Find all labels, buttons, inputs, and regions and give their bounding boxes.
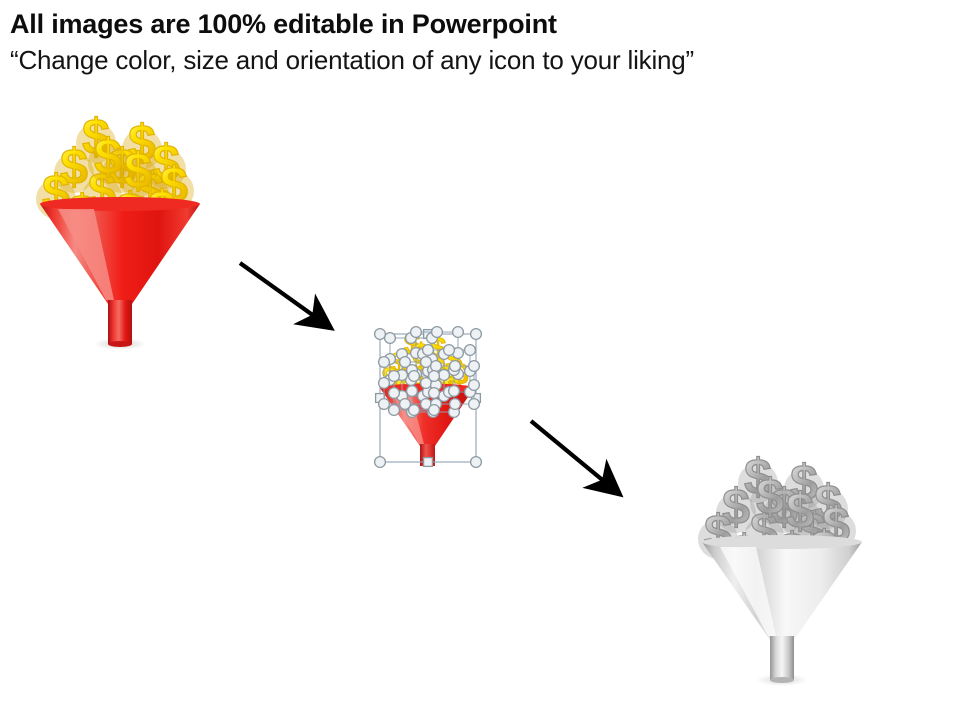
funnel-stem xyxy=(108,300,132,344)
slide-canvas: All images are 100% editable in Powerpoi… xyxy=(0,0,960,720)
arrow-line xyxy=(531,421,617,492)
funnel-dollar-icon-gold[interactable]: $ xyxy=(34,108,202,352)
funnel-rim xyxy=(40,197,200,211)
funnel-dollar-icon-silver[interactable]: $ xyxy=(696,448,864,688)
funnel-stem xyxy=(770,636,794,680)
page-title: All images are 100% editable in Powerpoi… xyxy=(10,8,910,40)
funnel-rim xyxy=(702,535,862,549)
funnel-stem-base xyxy=(108,341,132,347)
funnel-stem-base xyxy=(770,677,794,683)
heading-block: All images are 100% editable in Powerpoi… xyxy=(10,8,910,76)
arrow-line xyxy=(240,263,328,326)
arrow-gold-to-small xyxy=(236,258,340,340)
powerpoint-selection-handles[interactable] xyxy=(372,328,484,468)
page-subtitle: “Change color, size and orientation of a… xyxy=(10,44,910,76)
arrow-small-to-silver xyxy=(527,416,631,508)
